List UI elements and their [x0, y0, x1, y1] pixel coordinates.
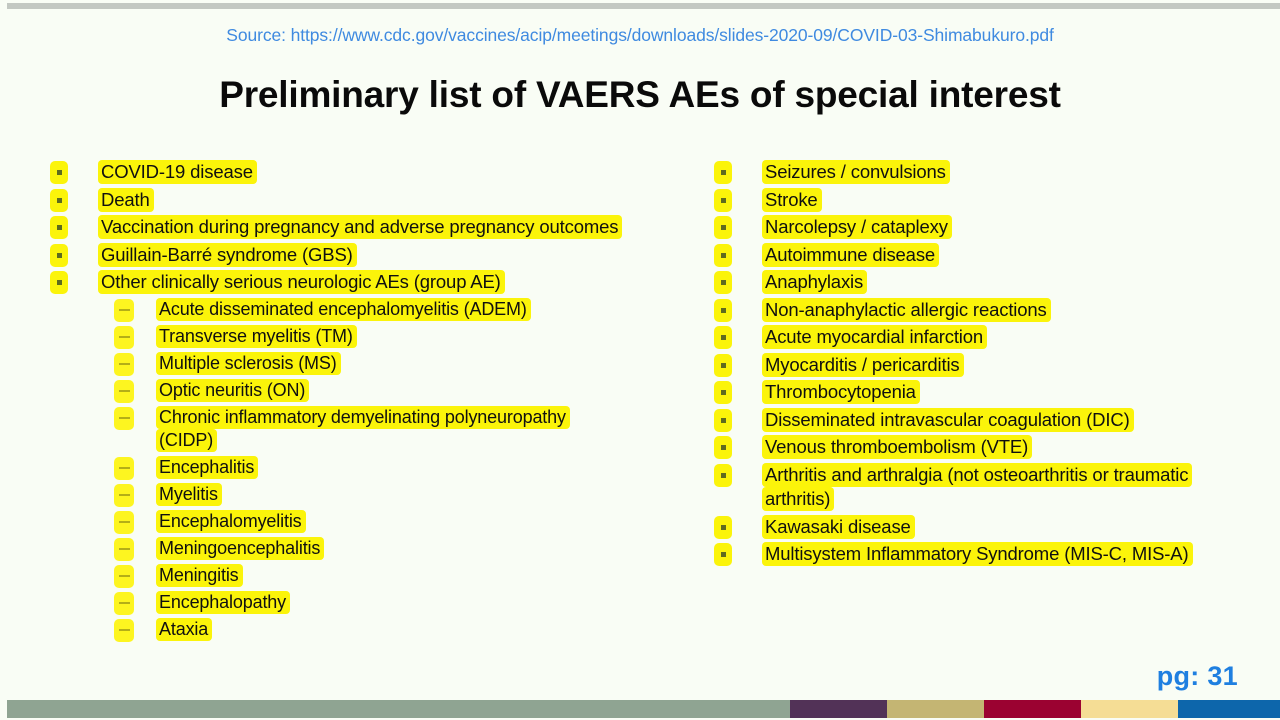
square-bullet-icon — [714, 516, 732, 539]
list-item-label: COVID-19 disease — [98, 160, 257, 184]
list-item-text-wrap: Meningoencephalitis — [156, 537, 324, 560]
list-item-text-wrap: COVID-19 disease — [98, 160, 257, 184]
list-item-text-wrap: Arthritis and arthralgia (not osteoarthr… — [762, 463, 1254, 511]
list-item: Acute disseminated encephalomyelitis (AD… — [114, 298, 670, 322]
dash-bullet-icon — [114, 592, 134, 615]
square-glyph — [721, 308, 726, 313]
list-item-label: Death — [98, 188, 154, 212]
square-glyph — [721, 198, 726, 203]
list-item-label: Myelitis — [156, 483, 222, 506]
list-item-label: Encephalopathy — [156, 591, 290, 614]
list-item-text-wrap: Encephalomyelitis — [156, 510, 306, 533]
square-bullet-icon — [714, 409, 732, 432]
square-bullet-icon — [714, 436, 732, 459]
list-item-label: Anaphylaxis — [762, 270, 867, 294]
list-item-text-wrap: Vaccination during pregnancy and adverse… — [98, 215, 622, 239]
list-item-label: Transverse myelitis (TM) — [156, 325, 357, 348]
list-item: Disseminated intravascular coagulation (… — [714, 408, 1259, 432]
square-bullet-icon — [714, 354, 732, 377]
bottom-bar-segment-blue — [1178, 700, 1280, 718]
list-item-text-wrap: Narcolepsy / cataplexy — [762, 215, 952, 239]
dash-bullet-icon — [114, 619, 134, 642]
list-item-text-wrap: Ataxia — [156, 618, 212, 641]
bottom-bar-segment-sage — [7, 700, 790, 718]
list-item-label: Acute disseminated encephalomyelitis (AD… — [156, 298, 531, 321]
list-item: Encephalomyelitis — [114, 510, 670, 534]
list-item-label: Arthritis and arthralgia (not osteoarthr… — [762, 463, 1192, 511]
list-item-label: Encephalomyelitis — [156, 510, 306, 533]
bottom-bar-segment-purple — [790, 700, 887, 718]
dash-bullet-icon — [114, 511, 134, 534]
list-item-text-wrap: Seizures / convulsions — [762, 160, 950, 184]
list-item-label: Multiple sclerosis (MS) — [156, 352, 341, 375]
list-item: Chronic inflammatory demyelinating polyn… — [114, 406, 670, 453]
square-glyph — [57, 280, 62, 285]
slide-canvas: Source: https://www.cdc.gov/vaccines/aci… — [0, 0, 1280, 720]
list-item: Meningitis — [114, 564, 670, 588]
list-item-text-wrap: Venous thromboembolism (VTE) — [762, 435, 1032, 459]
square-glyph — [721, 390, 726, 395]
list-item-text-wrap: Anaphylaxis — [762, 270, 867, 294]
list-item-text-wrap: Chronic inflammatory demyelinating polyn… — [156, 406, 626, 453]
dash-glyph — [119, 521, 130, 523]
list-item: Venous thromboembolism (VTE) — [714, 435, 1259, 459]
list-item: Transverse myelitis (TM) — [114, 325, 670, 349]
square-bullet-icon — [714, 216, 732, 239]
dash-bullet-icon — [114, 326, 134, 349]
square-bullet-icon — [714, 271, 732, 294]
square-bullet-icon — [50, 216, 68, 239]
square-glyph — [57, 225, 62, 230]
dash-bullet-icon — [114, 380, 134, 403]
square-glyph — [721, 473, 726, 478]
list-item: Non-anaphylactic allergic reactions — [714, 298, 1259, 322]
list-item-text-wrap: Autoimmune disease — [762, 243, 939, 267]
list-item-label: Myocarditis / pericarditis — [762, 353, 964, 377]
list-item: Stroke — [714, 188, 1259, 212]
source-url-label: Source: https://www.cdc.gov/vaccines/aci… — [0, 25, 1280, 46]
list-item-text-wrap: Encephalopathy — [156, 591, 290, 614]
list-item-text-wrap: Stroke — [762, 188, 822, 212]
square-bullet-icon — [714, 189, 732, 212]
list-item: Acute myocardial infarction — [714, 325, 1259, 349]
dash-bullet-icon — [114, 484, 134, 507]
list-item: Death — [50, 188, 670, 212]
list-item-label: Narcolepsy / cataplexy — [762, 215, 952, 239]
square-glyph — [721, 170, 726, 175]
list-item: Seizures / convulsions — [714, 160, 1259, 184]
square-glyph — [721, 280, 726, 285]
list-item-text-wrap: Acute myocardial infarction — [762, 325, 987, 349]
list-item-text-wrap: Encephalitis — [156, 456, 258, 479]
square-bullet-icon — [714, 543, 732, 566]
list-item: Autoimmune disease — [714, 243, 1259, 267]
square-glyph — [57, 198, 62, 203]
bottom-color-bar — [7, 700, 1280, 718]
list-item-label: Other clinically serious neurologic AEs … — [98, 270, 505, 294]
list-item: COVID-19 disease — [50, 160, 670, 184]
list-item: Narcolepsy / cataplexy — [714, 215, 1259, 239]
bottom-bar-segment-cream — [1081, 700, 1178, 718]
list-item-text-wrap: Other clinically serious neurologic AEs … — [98, 270, 505, 294]
square-bullet-icon — [50, 189, 68, 212]
list-item: Kawasaki disease — [714, 515, 1259, 539]
list-item-label: Venous thromboembolism (VTE) — [762, 435, 1032, 459]
list-item-text-wrap: Non-anaphylactic allergic reactions — [762, 298, 1051, 322]
square-glyph — [721, 363, 726, 368]
list-item-text-wrap: Optic neuritis (ON) — [156, 379, 309, 402]
dash-bullet-icon — [114, 407, 134, 430]
square-glyph — [721, 225, 726, 230]
list-item-text-wrap: Acute disseminated encephalomyelitis (AD… — [156, 298, 531, 321]
square-bullet-icon — [714, 326, 732, 349]
list-item-label: Seizures / convulsions — [762, 160, 950, 184]
list-item-text-wrap: Transverse myelitis (TM) — [156, 325, 357, 348]
square-glyph — [721, 552, 726, 557]
square-glyph — [721, 253, 726, 258]
list-item: Guillain-Barré syndrome (GBS) — [50, 243, 670, 267]
list-item-text-wrap: Myelitis — [156, 483, 222, 506]
list-item: Encephalopathy — [114, 591, 670, 615]
left-bullet-column: COVID-19 diseaseDeathVaccination during … — [50, 160, 670, 645]
list-item-label: Meningitis — [156, 564, 243, 587]
list-item-text-wrap: Meningitis — [156, 564, 243, 587]
top-strip — [7, 3, 1280, 9]
dash-glyph — [119, 602, 130, 604]
square-bullet-icon — [714, 299, 732, 322]
square-bullet-icon — [50, 244, 68, 267]
dash-glyph — [119, 363, 130, 365]
square-glyph — [57, 253, 62, 258]
list-item-label: Kawasaki disease — [762, 515, 915, 539]
dash-bullet-icon — [114, 565, 134, 588]
square-bullet-icon — [50, 161, 68, 184]
square-bullet-icon — [714, 381, 732, 404]
list-item-label: Autoimmune disease — [762, 243, 939, 267]
list-item-label: Guillain-Barré syndrome (GBS) — [98, 243, 357, 267]
page-title: Preliminary list of VAERS AEs of special… — [0, 74, 1280, 116]
list-item-text-wrap: Multisystem Inflammatory Syndrome (MIS-C… — [762, 542, 1193, 566]
list-item: Anaphylaxis — [714, 270, 1259, 294]
list-item: Thrombocytopenia — [714, 380, 1259, 404]
dash-glyph — [119, 336, 130, 338]
list-item-label: Chronic inflammatory demyelinating polyn… — [156, 406, 570, 452]
dash-glyph — [119, 494, 130, 496]
list-item-text-wrap: Thrombocytopenia — [762, 380, 920, 404]
list-item: Ataxia — [114, 618, 670, 642]
dash-bullet-icon — [114, 299, 134, 322]
list-item-text-wrap: Multiple sclerosis (MS) — [156, 352, 341, 375]
list-item-text-wrap: Kawasaki disease — [762, 515, 915, 539]
list-item: Myocarditis / pericarditis — [714, 353, 1259, 377]
bottom-bar-segment-crimson — [984, 700, 1081, 718]
list-item-label: Encephalitis — [156, 456, 258, 479]
list-item: Multisystem Inflammatory Syndrome (MIS-C… — [714, 542, 1259, 566]
square-glyph — [721, 335, 726, 340]
list-item-label: Thrombocytopenia — [762, 380, 920, 404]
list-item-label: Vaccination during pregnancy and adverse… — [98, 215, 622, 239]
list-item-label: Multisystem Inflammatory Syndrome (MIS-C… — [762, 542, 1193, 566]
square-bullet-icon — [714, 464, 732, 487]
square-glyph — [721, 418, 726, 423]
square-bullet-icon — [714, 244, 732, 267]
list-item: Other clinically serious neurologic AEs … — [50, 270, 670, 294]
dash-glyph — [119, 548, 130, 550]
list-item-label: Non-anaphylactic allergic reactions — [762, 298, 1051, 322]
dash-bullet-icon — [114, 353, 134, 376]
list-item-label: Stroke — [762, 188, 822, 212]
dash-bullet-icon — [114, 538, 134, 561]
dash-glyph — [119, 467, 130, 469]
page-number: pg: 31 — [1157, 661, 1238, 692]
list-item: Arthritis and arthralgia (not osteoarthr… — [714, 463, 1259, 511]
list-item: Vaccination during pregnancy and adverse… — [50, 215, 670, 239]
square-glyph — [721, 445, 726, 450]
list-item: Myelitis — [114, 483, 670, 507]
list-item-text-wrap: Myocarditis / pericarditis — [762, 353, 964, 377]
list-item: Meningoencephalitis — [114, 537, 670, 561]
list-item-text-wrap: Guillain-Barré syndrome (GBS) — [98, 243, 357, 267]
square-glyph — [721, 525, 726, 530]
square-bullet-icon — [714, 161, 732, 184]
dash-glyph — [119, 575, 130, 577]
list-item-text-wrap: Death — [98, 188, 154, 212]
list-item: Optic neuritis (ON) — [114, 379, 670, 403]
dash-bullet-icon — [114, 457, 134, 480]
list-item-text-wrap: Disseminated intravascular coagulation (… — [762, 408, 1134, 432]
dash-glyph — [119, 390, 130, 392]
list-item-label: Optic neuritis (ON) — [156, 379, 309, 402]
square-bullet-icon — [50, 271, 68, 294]
list-item-label: Meningoencephalitis — [156, 537, 324, 560]
list-item: Encephalitis — [114, 456, 670, 480]
dash-glyph — [119, 309, 130, 311]
bottom-bar-segment-khaki — [887, 700, 984, 718]
list-item-label: Ataxia — [156, 618, 212, 641]
dash-glyph — [119, 417, 130, 419]
square-glyph — [57, 170, 62, 175]
right-bullet-column: Seizures / convulsionsStrokeNarcolepsy /… — [714, 160, 1259, 570]
list-item-label: Acute myocardial infarction — [762, 325, 987, 349]
list-item: Multiple sclerosis (MS) — [114, 352, 670, 376]
list-item-label: Disseminated intravascular coagulation (… — [762, 408, 1134, 432]
dash-glyph — [119, 629, 130, 631]
